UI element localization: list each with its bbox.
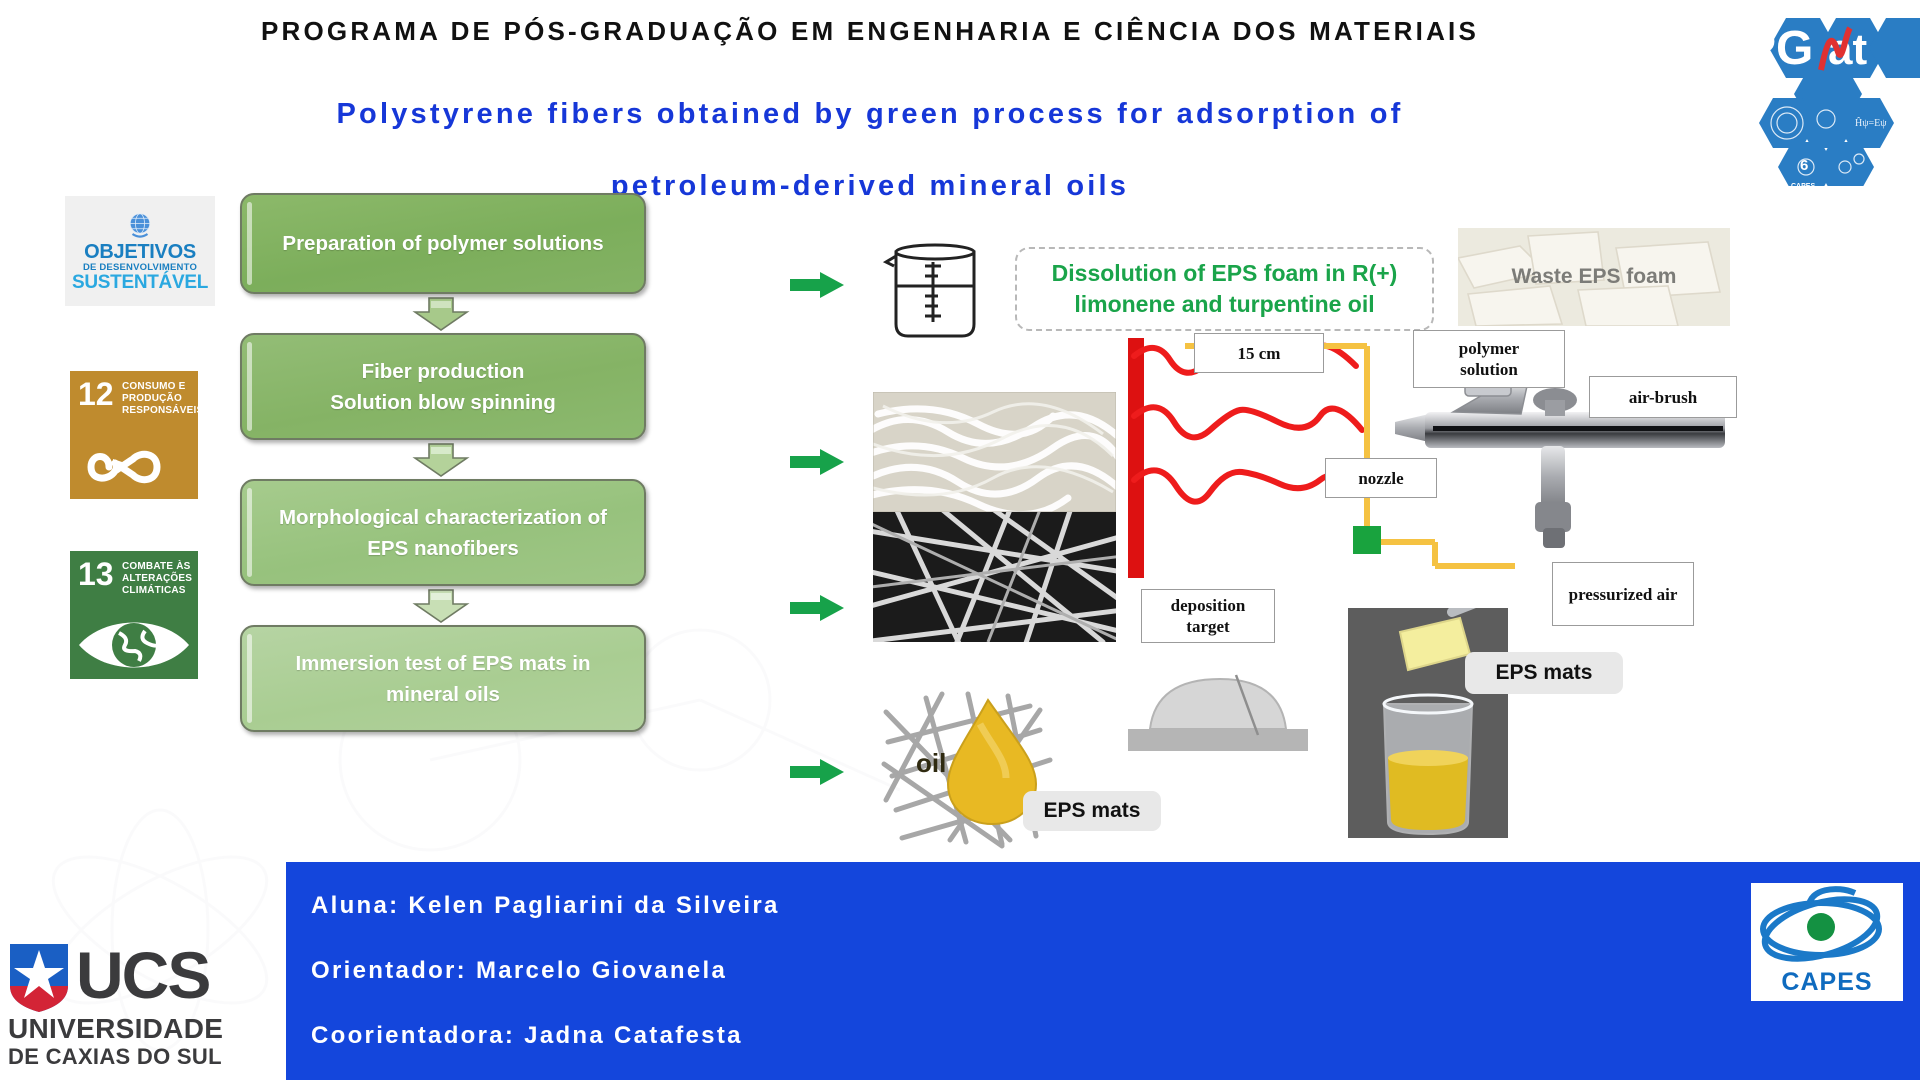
flow-step-4[interactable]: Immersion test of EPS mats in mineral oi… (240, 625, 646, 732)
label-deposition-target: deposition target (1141, 589, 1275, 643)
paper-title-line-1: Polystyrene fibers obtained by green pro… (60, 78, 1680, 150)
poster-root: PROGRAMA DE PÓS-GRADUAÇÃO EM ENGENHARIA … (0, 0, 1920, 1080)
capes-logo: CAPES (1748, 880, 1906, 1004)
dissolution-callout: Dissolution of EPS foam in R(+) limonene… (1015, 247, 1434, 331)
label-distance: 15 cm (1194, 333, 1324, 373)
footer-line-advisor: Orientador: Marcelo Giovanela (311, 957, 727, 985)
label-polymer-solution: polymer solution (1413, 330, 1565, 388)
chip-eps-mats-right: EPS mats (1465, 652, 1623, 694)
sdg-logo-column: OBJETIVOS DE DESENVOLVIMENTO SUSTENTÁVEL… (55, 196, 230, 679)
sem-nanofibers-photo (873, 512, 1116, 642)
eye-globe-icon (75, 617, 193, 673)
flow-step-1[interactable]: Preparation of polymer solutions (240, 193, 646, 294)
flow-step-4-label: Immersion test of EPS mats in mineral oi… (295, 648, 590, 710)
label-deposition-target-text: deposition target (1171, 595, 1246, 637)
deposition-target-illustration (1120, 665, 1330, 755)
footer-line-coadvisor: Coorientadora: Jadna Catafesta (311, 1022, 743, 1050)
flow-step-1-label: Preparation of polymer solutions (282, 228, 603, 259)
ucs-logo-top: UCS (8, 942, 280, 1014)
flow-step-2-label: Fiber production Solution blow spinning (330, 356, 555, 418)
flow-arrow-1 (240, 294, 642, 333)
flow-step-3[interactable]: Morphological characterization of EPS na… (240, 479, 646, 586)
sdg-goal-13: 13 COMBATE ÀS ALTERAÇÕES CLIMÁTICAS (70, 551, 198, 679)
label-polymer-solution-text: polymer solution (1459, 338, 1519, 380)
waste-eps-foam-label: Waste EPS foam (1458, 265, 1730, 289)
ucs-line-1: UNIVERSIDADE (8, 1014, 280, 1044)
green-valve-icon (1353, 526, 1381, 554)
capes-wordmark: CAPES (1751, 968, 1903, 997)
down-arrow-icon (409, 442, 473, 478)
ods-line-1-text: OBJETIVOS (84, 242, 196, 262)
footer-line-student: Aluna: Kelen Pagliarini da Silveira (311, 892, 780, 920)
infinity-recycle-icon (79, 441, 189, 493)
white-fibers-photo (873, 392, 1116, 512)
ods-line-2: DE DESENVOLVIMENTO (83, 262, 197, 273)
ods-line-3: SUSTENTÁVEL (72, 273, 208, 293)
down-arrow-icon (409, 296, 473, 332)
green-arrow-1 (790, 270, 846, 300)
ods-card: OBJETIVOS DE DESENVOLVIMENTO SUSTENTÁVEL (65, 196, 215, 306)
capes-orbit-icon (1751, 883, 1897, 971)
un-globe-icon (125, 210, 155, 240)
down-arrow-icon (409, 588, 473, 624)
sdg-12-number: 12 (78, 379, 114, 409)
ucs-acronym: UCS (76, 942, 209, 1008)
ucs-shield-star-icon (8, 942, 70, 1014)
svg-text:6: 6 (1800, 157, 1808, 174)
process-flowchart: Preparation of polymer solutions Fiber p… (240, 193, 652, 732)
label-air-brush: air-brush (1589, 376, 1737, 418)
sdg-13-text: COMBATE ÀS ALTERAÇÕES CLIMÁTICAS (122, 561, 194, 597)
flow-arrow-2 (240, 440, 642, 479)
ucs-line-2: DE CAXIAS DO SUL (8, 1044, 280, 1070)
svg-text:CAPES: CAPES (1791, 183, 1815, 186)
sdg-12-text: CONSUMO E PRODUÇÃO RESPONSÁVEIS (122, 381, 194, 417)
waste-eps-foam-photo: Waste EPS foam (1458, 228, 1730, 326)
label-pressurized-air: pressurized air (1552, 562, 1694, 626)
program-title: PROGRAMA DE PÓS-GRADUAÇÃO EM ENGENHARIA … (50, 16, 1690, 47)
svg-text:PG: PG (1744, 22, 1813, 75)
chip-eps-mats-bottom: EPS mats (1023, 791, 1161, 831)
label-nozzle: nozzle (1325, 458, 1437, 498)
sdg-13-number: 13 (78, 559, 114, 589)
ucs-logo: UCS UNIVERSIDADE DE CAXIAS DO SUL (8, 942, 280, 1074)
green-arrow-3 (790, 593, 846, 623)
dissolution-callout-text: Dissolution of EPS foam in R(+) limonene… (1017, 258, 1432, 320)
oil-drop-label: oil (916, 748, 946, 778)
green-arrow-4 (790, 757, 846, 787)
flow-step-3-label: Morphological characterization of EPS na… (279, 502, 607, 564)
svg-text:Ĥψ=Eψ: Ĥψ=Eψ (1855, 117, 1887, 129)
flow-arrow-3 (240, 586, 642, 625)
footer-bar: Aluna: Kelen Pagliarini da Silveira Orie… (286, 862, 1920, 1080)
green-arrow-2 (790, 447, 846, 477)
beaker-with-oil-photo (1348, 608, 1508, 838)
beaker-icon (878, 236, 988, 346)
flow-step-2[interactable]: Fiber production Solution blow spinning (240, 333, 646, 440)
sdg-goal-12: 12 CONSUMO E PRODUÇÃO RESPONSÁVEIS (70, 371, 198, 499)
pgmat-logo: PG at Ĥψ=Eψ 6 CAPES (1728, 6, 1920, 186)
ods-line-1: OBJETIVOS (84, 242, 196, 262)
